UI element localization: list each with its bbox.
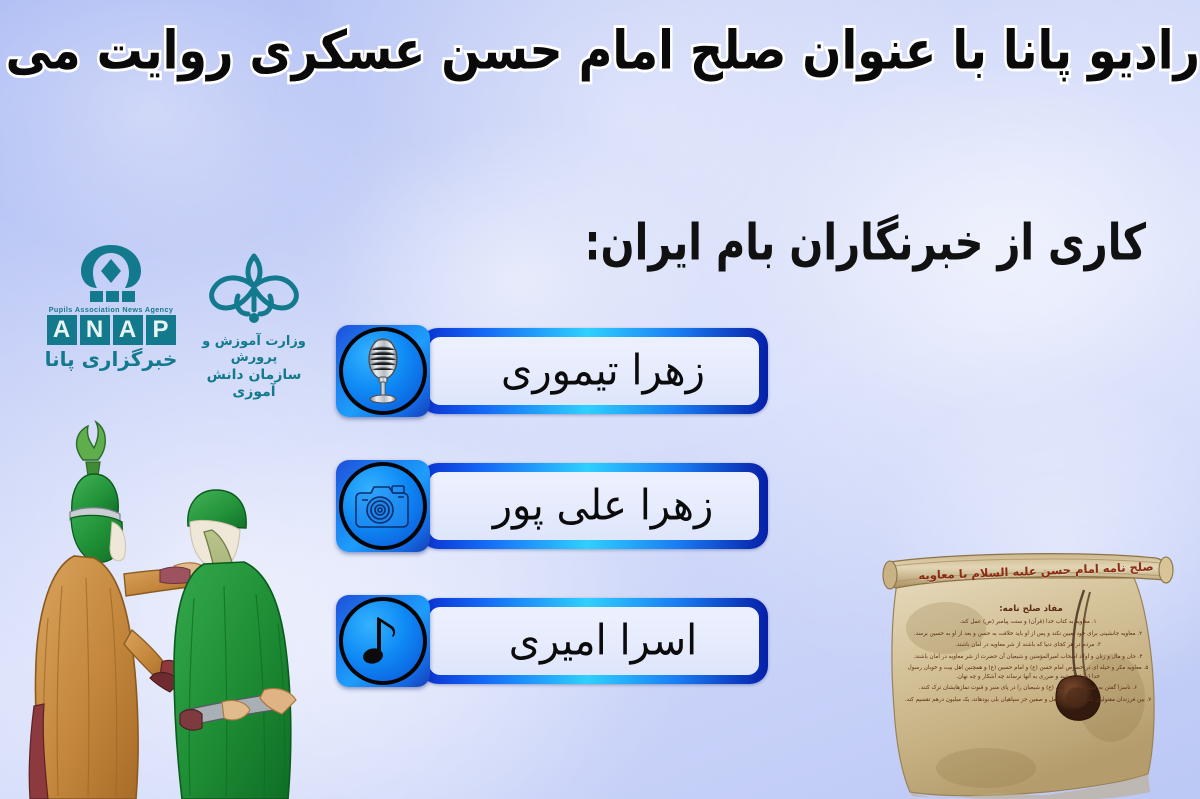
camera-icon bbox=[339, 462, 427, 550]
music-note-glyph-icon bbox=[362, 612, 404, 670]
camera-icon-badge[interactable] bbox=[336, 460, 430, 552]
ministry-logo: وزارت آموزش و پرورش سازمان دانش آموزی bbox=[188, 248, 320, 402]
page-title: رادیو پانا با عنوان صلح امام حسن عسکری ر… bbox=[0, 22, 1200, 79]
pana-emblem-icon bbox=[63, 243, 159, 303]
pana-logo: Pupils Association News Agency P A N A خ… bbox=[36, 243, 186, 370]
scroll-clause-list: ۱. معاویه به کتاب خدا (قرآن) و سنت پیامب… bbox=[904, 618, 1152, 707]
name-plate[interactable]: زهرا علی پور bbox=[424, 467, 764, 545]
two-figures-illustration bbox=[28, 418, 328, 799]
pana-letter: N bbox=[80, 315, 110, 345]
pana-letter: A bbox=[113, 315, 143, 345]
microphone-icon-badge[interactable] bbox=[336, 325, 430, 417]
contributor-name: زهرا علی پور bbox=[465, 485, 741, 527]
name-plate[interactable]: اسرا امیری bbox=[424, 602, 764, 680]
peace-treaty-scroll: صلح نامه امام حسن علیه السلام با معاویه … bbox=[876, 548, 1196, 799]
pana-english-tagline: Pupils Association News Agency bbox=[36, 305, 186, 314]
pana-letter: A bbox=[47, 315, 77, 345]
scroll-clause: ۶. ناسزا گفتن به امیرالمؤمنین علی (ع) و … bbox=[904, 684, 1152, 692]
name-plate-wrap[interactable]: زهرا تیموری bbox=[420, 328, 768, 414]
contributor-row[interactable]: اسرا امیری bbox=[336, 595, 768, 687]
scroll-clause: ۲. معاویه جانشینی برای خود تعیین نکند و … bbox=[904, 630, 1152, 638]
scroll-clause: ۵. معاویه مکر و حیله ای در خصوص امام حسن… bbox=[904, 664, 1152, 681]
camera-glyph-icon bbox=[352, 482, 414, 530]
ministry-line-1: وزارت آموزش و پرورش bbox=[188, 334, 320, 367]
ministry-emblem-icon bbox=[194, 248, 314, 330]
name-plate-wrap[interactable]: اسرا امیری bbox=[420, 598, 768, 684]
microphone-glyph-icon bbox=[357, 338, 409, 404]
contributor-row[interactable]: زهرا تیموری bbox=[336, 325, 768, 417]
scroll-clause: ۳. مردم در هر کجای دنیا که باشند از شر م… bbox=[904, 641, 1152, 649]
contributor-name: اسرا امیری bbox=[465, 620, 741, 662]
pana-wordmark: P A N A bbox=[36, 315, 186, 345]
music-note-icon-badge[interactable] bbox=[336, 595, 430, 687]
figures-svg bbox=[28, 418, 328, 799]
scroll-clause: ۴. جان و مال و زنان و اولاد اصحاب امیرال… bbox=[904, 653, 1152, 661]
scroll-clause: ۷. بین فرزندان مقتولینی که در جنگهای جمل… bbox=[904, 696, 1152, 704]
credit-line: کاری از خبرنگاران بام ایران: bbox=[585, 218, 1146, 268]
contributor-name: زهرا تیموری bbox=[465, 350, 741, 392]
contributor-row[interactable]: زهرا علی پور bbox=[336, 460, 768, 552]
scroll-clause: ۱. معاویه به کتاب خدا (قرآن) و سنت پیامب… bbox=[904, 618, 1152, 626]
name-plate[interactable]: زهرا تیموری bbox=[424, 332, 764, 410]
pana-persian-name: خبرگزاری پانا bbox=[36, 348, 186, 370]
name-plate-wrap[interactable]: زهرا علی پور bbox=[420, 463, 768, 549]
figure-right bbox=[174, 490, 296, 799]
microphone-icon bbox=[339, 327, 427, 415]
poster-canvas: رادیو پانا با عنوان صلح امام حسن عسکری ر… bbox=[0, 0, 1200, 799]
ministry-line-2: سازمان دانش آموزی bbox=[188, 367, 320, 402]
scroll-heading: مفاد صلح نامه: bbox=[906, 604, 1156, 614]
pana-letter: P bbox=[146, 315, 176, 345]
music-note-icon bbox=[339, 597, 427, 685]
